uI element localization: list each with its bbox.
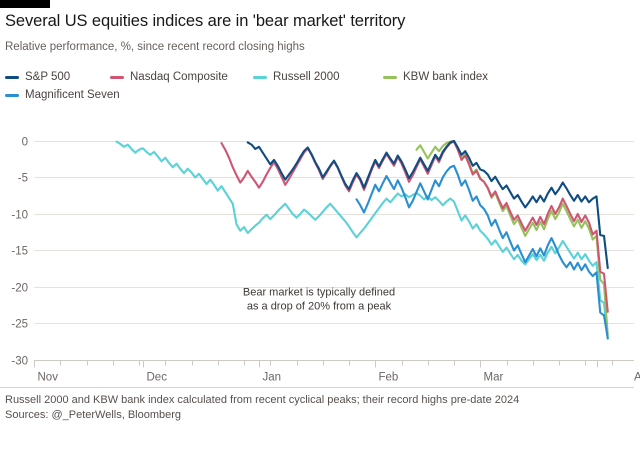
legend-swatch-kbw-icon [383,76,397,79]
legend-label-kbw: KBW bank index [403,71,488,83]
legend-row: S&P 500Nasdaq CompositeRussell 2000KBW b… [5,68,635,86]
annotation-line-1: Bear market is typically defined [243,287,395,299]
legend-label-mag7: Magnificent Seven [25,89,120,101]
chart-footer: Russell 2000 and KBW bank index calculat… [5,393,635,423]
legend-swatch-russell-icon [253,76,267,79]
x-tick-label: Jan [263,372,282,384]
y-tick-label: -25 [11,319,28,331]
legend-item-sp500[interactable]: S&P 500 [5,68,70,86]
line-chart-svg: 0-5-10-15-20-25-30NovDecJanFebMarAprBear… [0,112,640,387]
y-tick-label: 0 [22,137,28,149]
x-tick-label: Apr [634,372,640,384]
annotation-line-2: as a drop of 20% from a peak [247,301,392,313]
y-tick-label: -10 [11,210,28,222]
legend-swatch-mag7-icon [5,94,19,97]
x-tick-label: Dec [147,372,168,384]
y-tick-label: -30 [11,356,28,368]
footer-divider [0,387,634,388]
legend-item-nasdaq[interactable]: Nasdaq Composite [110,68,228,86]
legend-label-sp500: S&P 500 [25,71,70,83]
legend-item-mag7[interactable]: Magnificent Seven [5,86,120,104]
chart-legend: S&P 500Nasdaq CompositeRussell 2000KBW b… [5,68,635,104]
footer-sources: Sources: @_PeterWells, Bloomberg [5,408,635,423]
chart-plot-area: 0-5-10-15-20-25-30NovDecJanFebMarAprBear… [0,112,640,387]
footer-note: Russell 2000 and KBW bank index calculat… [5,393,635,408]
x-tick-label: Mar [484,372,504,384]
y-tick-label: -5 [18,173,28,185]
legend-swatch-sp500-icon [5,76,19,79]
ft-brand-bar [0,0,50,8]
legend-swatch-nasdaq-icon [110,76,124,79]
y-tick-label: -15 [11,246,28,258]
legend-item-kbw[interactable]: KBW bank index [383,68,488,86]
x-tick-label: Feb [379,372,399,384]
page-title: Several US equities indices are in 'bear… [5,12,405,31]
legend-label-nasdaq: Nasdaq Composite [130,71,228,83]
series-line-kbw-bank-index [417,141,608,335]
chart-subtitle: Relative performance, %, since recent re… [5,41,305,53]
x-tick-label: Nov [38,372,59,384]
legend-label-russell: Russell 2000 [273,71,339,83]
legend-row: Magnificent Seven [5,86,635,104]
y-tick-label: -20 [11,283,28,295]
legend-item-russell[interactable]: Russell 2000 [253,68,339,86]
